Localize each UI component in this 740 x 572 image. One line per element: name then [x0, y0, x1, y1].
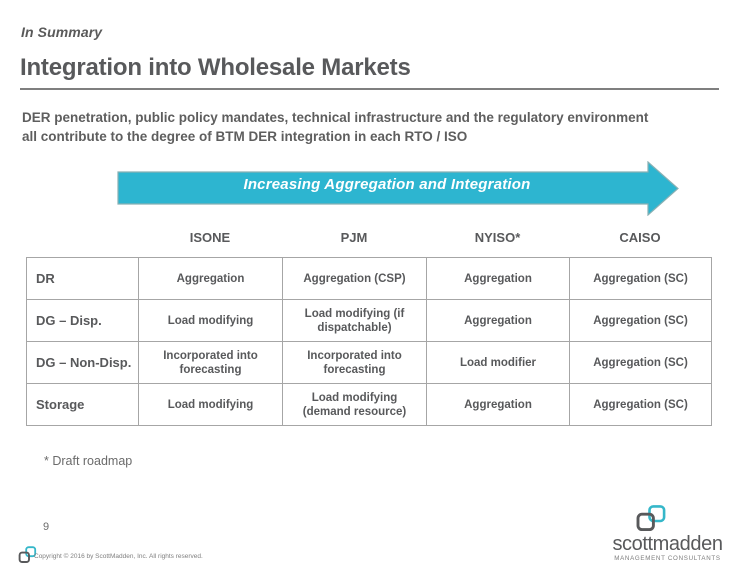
title-divider [20, 88, 719, 90]
page-number: 9 [43, 521, 49, 533]
eyebrow-label: In Summary [21, 24, 102, 40]
copyright-text: Copyright © 2016 by ScottMadden, Inc. Al… [34, 553, 203, 560]
cell-dr-pjm: Aggregation (CSP) [283, 258, 427, 300]
cell-dgdisp-caiso: Aggregation (SC) [570, 300, 712, 342]
column-header-caiso: CAISO [569, 230, 711, 245]
cell-storage-pjm: Load modifying (demand resource) [283, 384, 427, 426]
table-row: DG – Non-Disp. Incorporated into forecas… [27, 342, 712, 384]
logo-tagline: MANAGEMENT CONSULTANTS [605, 555, 730, 562]
row-label-dg-nondisp: DG – Non-Disp. [27, 342, 139, 384]
cell-dgdisp-nyiso: Aggregation [427, 300, 570, 342]
row-label-storage: Storage [27, 384, 139, 426]
table-row: DG – Disp. Load modifying Load modifying… [27, 300, 712, 342]
cell-dr-isone: Aggregation [139, 258, 283, 300]
cell-dgnondisp-isone: Incorporated into forecasting [139, 342, 283, 384]
table-row: DR Aggregation Aggregation (CSP) Aggrega… [27, 258, 712, 300]
table-column-headers: ISONE PJM NYISO* CAISO [138, 230, 711, 245]
cell-storage-isone: Load modifying [139, 384, 283, 426]
arrow-label: Increasing Aggregation and Integration [117, 176, 657, 193]
cell-dr-caiso: Aggregation (SC) [570, 258, 712, 300]
cell-storage-caiso: Aggregation (SC) [570, 384, 712, 426]
cell-dgnondisp-caiso: Aggregation (SC) [570, 342, 712, 384]
subtitle-text: DER penetration, public policy mandates,… [22, 108, 662, 146]
column-header-nyiso: NYISO* [426, 230, 569, 245]
column-header-pjm: PJM [282, 230, 426, 245]
column-header-isone: ISONE [138, 230, 282, 245]
cell-dr-nyiso: Aggregation [427, 258, 570, 300]
integration-matrix-table: DR Aggregation Aggregation (CSP) Aggrega… [26, 257, 712, 426]
cell-dgdisp-pjm: Load modifying (if dispatchable) [283, 300, 427, 342]
logo-wordmark: scottmadden [605, 533, 730, 556]
table-row: Storage Load modifying Load modifying (d… [27, 384, 712, 426]
row-label-dg-disp: DG – Disp. [27, 300, 139, 342]
scottmadden-logo: scottmadden MANAGEMENT CONSULTANTS [605, 505, 730, 567]
footnote-text: * Draft roadmap [44, 454, 132, 468]
cell-storage-nyiso: Aggregation [427, 384, 570, 426]
row-label-dr: DR [27, 258, 139, 300]
cell-dgdisp-isone: Load modifying [139, 300, 283, 342]
cell-dgnondisp-pjm: Incorporated into forecasting [283, 342, 427, 384]
page-title: Integration into Wholesale Markets [20, 54, 411, 82]
scottmadden-logo-icon [635, 505, 669, 533]
cell-dgnondisp-nyiso: Load modifier [427, 342, 570, 384]
